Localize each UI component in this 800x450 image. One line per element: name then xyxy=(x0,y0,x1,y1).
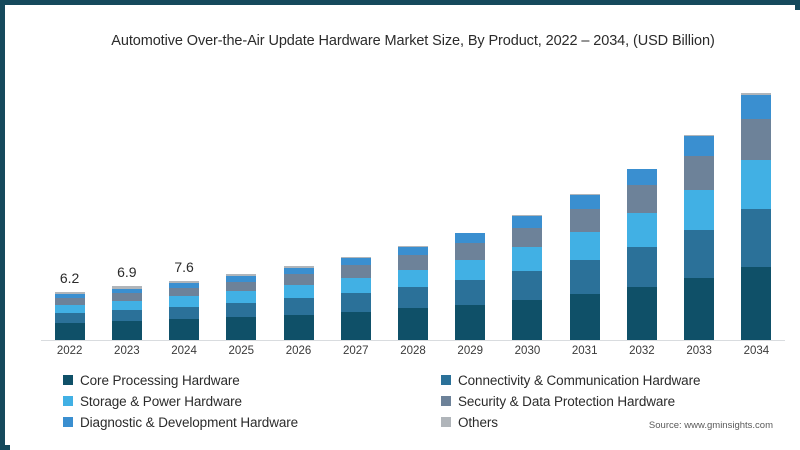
stacked-bar[interactable] xyxy=(570,194,600,340)
bar-group: 6.9 xyxy=(98,75,155,340)
bar-segment xyxy=(512,271,542,300)
bar-segment xyxy=(398,287,428,308)
bar-segment xyxy=(570,260,600,294)
bar-segment xyxy=(169,288,199,296)
legend-item-label: Storage & Power Hardware xyxy=(80,394,242,409)
bar-segment xyxy=(398,270,428,287)
bar-group xyxy=(213,75,270,340)
bar-segment xyxy=(55,298,85,305)
bar-segment xyxy=(341,293,371,312)
x-axis-tick-label: 2031 xyxy=(572,345,598,357)
bar-segment xyxy=(341,278,371,293)
plot-area: 6.26.97.6 xyxy=(41,75,785,340)
bar-value-label: 6.9 xyxy=(117,264,136,280)
bar-segment xyxy=(741,160,771,209)
bar-segment xyxy=(398,308,428,340)
x-axis-tick-label: 2027 xyxy=(343,345,369,357)
bar-group xyxy=(556,75,613,340)
x-axis-tick-label: 2023 xyxy=(114,345,140,357)
bar-segment xyxy=(627,287,657,340)
bar-segment xyxy=(169,296,199,306)
bar-segment xyxy=(570,232,600,260)
bar-segment xyxy=(741,95,771,118)
bar-segment xyxy=(341,312,371,340)
bar-group xyxy=(728,75,785,340)
bar-segment xyxy=(55,313,85,323)
bar-value-label: 7.6 xyxy=(174,259,193,275)
stacked-bar[interactable] xyxy=(741,93,771,340)
x-axis-tick-label: 2029 xyxy=(457,345,483,357)
x-axis-tick-label: 2034 xyxy=(744,345,770,357)
stacked-bar[interactable] xyxy=(284,266,314,340)
stacked-bar[interactable] xyxy=(398,246,428,340)
x-axis-tick-label: 2030 xyxy=(515,345,541,357)
bar-segment xyxy=(684,230,714,278)
bar-group xyxy=(499,75,556,340)
x-axis-line xyxy=(41,340,785,341)
bar-group xyxy=(327,75,384,340)
x-axis-tick-label: 2025 xyxy=(229,345,255,357)
bar-segment xyxy=(284,274,314,285)
bar-segment xyxy=(169,307,199,320)
bar-segment xyxy=(398,247,428,255)
bar-segment xyxy=(512,300,542,340)
stacked-bar[interactable] xyxy=(684,135,714,340)
bar-segment xyxy=(398,255,428,269)
bar-segment xyxy=(284,315,314,340)
legend-item[interactable]: Diagnostic & Development Hardware xyxy=(63,413,298,431)
bar-group: 7.6 xyxy=(155,75,212,340)
bar-segment xyxy=(512,228,542,248)
bar-segment xyxy=(570,294,600,340)
chart-inner-frame: Automotive Over-the-Air Update Hardware … xyxy=(10,10,800,450)
bar-segment xyxy=(341,258,371,265)
legend-item-label: Diagnostic & Development Hardware xyxy=(80,415,298,430)
legend-item-label: Core Processing Hardware xyxy=(80,373,240,388)
bar-segment xyxy=(112,293,142,300)
bar-segment xyxy=(627,169,657,185)
x-axis-tick-label: 2033 xyxy=(686,345,712,357)
bar-group xyxy=(270,75,327,340)
bar-segment xyxy=(455,233,485,243)
source-attribution: Source: www.gminsights.com xyxy=(649,420,773,431)
x-axis-tick-label: 2028 xyxy=(400,345,426,357)
bar-segment xyxy=(627,213,657,246)
bar-segment xyxy=(455,305,485,340)
bar-segment xyxy=(627,247,657,287)
bar-group xyxy=(613,75,670,340)
stacked-bar[interactable] xyxy=(627,169,657,340)
bar-segment xyxy=(684,190,714,230)
chart-title: Automotive Over-the-Air Update Hardware … xyxy=(13,33,800,49)
legend-item[interactable]: Others xyxy=(441,413,498,431)
bar-segment xyxy=(169,319,199,340)
legend-item[interactable]: Security & Data Protection Hardware xyxy=(441,392,675,410)
stacked-bar[interactable] xyxy=(169,281,199,340)
legend-item[interactable]: Storage & Power Hardware xyxy=(63,392,242,410)
bar-segment xyxy=(112,321,142,340)
chart-frame: Automotive Over-the-Air Update Hardware … xyxy=(0,0,800,450)
legend-color-swatch xyxy=(63,375,73,385)
legend-item-label: Others xyxy=(458,415,498,430)
x-axis-tick-labels: 2022202320242025202620272028202920302031… xyxy=(41,345,785,363)
bar-segment xyxy=(226,282,256,292)
x-axis-tick-label: 2032 xyxy=(629,345,655,357)
legend-color-swatch xyxy=(63,396,73,406)
bar-segment xyxy=(112,310,142,321)
bar-group xyxy=(671,75,728,340)
bar-segment xyxy=(627,185,657,213)
bar-group: 6.2 xyxy=(41,75,98,340)
bar-segment xyxy=(55,305,85,313)
bar-segment xyxy=(741,209,771,267)
stacked-bar[interactable] xyxy=(455,232,485,340)
legend-item-label: Connectivity & Communication Hardware xyxy=(458,373,700,388)
legend-color-swatch xyxy=(441,417,451,427)
bar-value-label: 6.2 xyxy=(60,270,79,286)
legend-color-swatch xyxy=(441,375,451,385)
bar-segment xyxy=(512,216,542,227)
x-axis-tick-label: 2022 xyxy=(57,345,83,357)
legend-item[interactable]: Core Processing Hardware xyxy=(63,371,240,389)
bar-segment xyxy=(284,285,314,298)
bar-segment xyxy=(512,247,542,271)
bar-segment xyxy=(226,291,256,303)
bar-segment xyxy=(55,323,85,340)
bar-segment xyxy=(570,195,600,208)
bar-segment xyxy=(684,278,714,340)
bar-segment xyxy=(112,301,142,310)
legend-color-swatch xyxy=(441,396,451,406)
bar-segment xyxy=(570,209,600,232)
stacked-bar[interactable] xyxy=(341,257,371,340)
legend-item[interactable]: Connectivity & Communication Hardware xyxy=(441,371,700,389)
bar-segment xyxy=(226,317,256,340)
bar-segment xyxy=(455,260,485,280)
bar-segment xyxy=(341,265,371,277)
legend-color-swatch xyxy=(63,417,73,427)
bar-segment xyxy=(741,267,771,340)
legend-item-label: Security & Data Protection Hardware xyxy=(458,394,675,409)
x-axis-tick-label: 2026 xyxy=(286,345,312,357)
stacked-bar[interactable] xyxy=(512,215,542,340)
bar-segment xyxy=(741,119,771,160)
x-axis-tick-label: 2024 xyxy=(171,345,197,357)
bar-segment xyxy=(684,156,714,190)
bar-segment xyxy=(226,303,256,317)
bar-segment xyxy=(455,280,485,305)
bar-segment xyxy=(455,243,485,260)
stacked-bar[interactable] xyxy=(55,292,85,340)
stacked-bar[interactable] xyxy=(112,286,142,340)
bar-segment xyxy=(684,136,714,155)
stacked-bar[interactable] xyxy=(226,274,256,340)
bar-group xyxy=(442,75,499,340)
bar-group xyxy=(384,75,441,340)
bar-segment xyxy=(284,298,314,314)
